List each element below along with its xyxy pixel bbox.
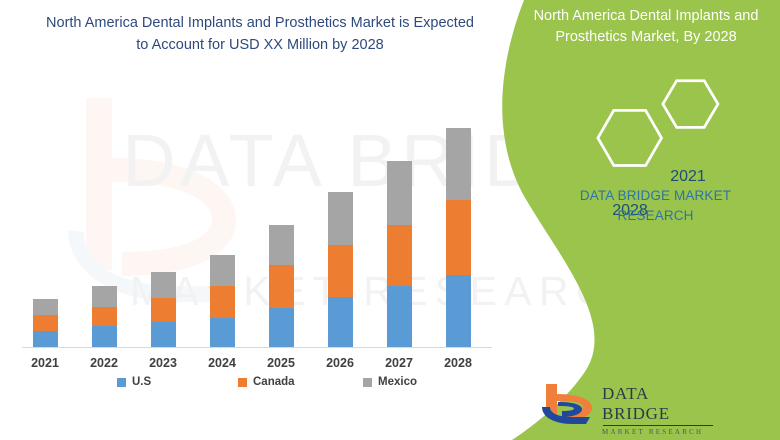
legend-item-mexico[interactable]: Mexico [363, 376, 417, 388]
bar-segment-canada [92, 307, 117, 326]
bar-segment-mexico [151, 272, 176, 298]
legend-label-mexico: Mexico [378, 376, 417, 388]
hexagon-2028-shape [598, 110, 662, 165]
bar-segment-mexico [33, 299, 58, 315]
bar-segment-canada [210, 286, 235, 318]
bar-segment-canada [269, 265, 294, 308]
panel-brand-text: DATA BRIDGE MARKET RESEARCH [548, 186, 763, 227]
legend-item-canada[interactable]: Canada [238, 376, 295, 388]
legend-swatch-canada-icon [238, 378, 247, 387]
bar-segment-us [269, 308, 294, 347]
hexagon-group: 2028 2021 [586, 72, 736, 182]
legend-swatch-mexico-icon [363, 378, 372, 387]
bar-segment-canada [33, 315, 58, 331]
bar-segment-us [210, 318, 235, 347]
logo-mark-icon [540, 382, 598, 426]
logo-tagline: MARKET RESEARCH [602, 428, 720, 436]
hexagon-2021-label: 2021 [658, 168, 718, 186]
logo-name: DATA BRIDGE [602, 384, 720, 424]
bar-column-2027[interactable] [387, 161, 412, 347]
bar-segment-us [33, 331, 58, 347]
bar-segment-us [328, 297, 353, 347]
bar-segment-us [387, 286, 412, 347]
panel-title: North America Dental Implants and Prosth… [520, 6, 772, 48]
legend-label-canada: Canada [253, 376, 295, 388]
company-logo[interactable]: DATA BRIDGE MARKET RESEARCH [540, 382, 720, 426]
bar-column-2028[interactable] [446, 128, 471, 347]
bar-segment-canada [387, 225, 412, 286]
x-tick-label-2021: 2021 [15, 356, 75, 370]
bar-column-2026[interactable] [328, 192, 353, 347]
legend-label-us: U.S [132, 376, 151, 388]
bar-segment-us [151, 322, 176, 347]
logo-divider [603, 425, 713, 426]
bar-segment-mexico [269, 225, 294, 265]
x-tick-label-2026: 2026 [310, 356, 370, 370]
chart-baseline-axis [22, 347, 492, 348]
x-tick-label-2025: 2025 [251, 356, 311, 370]
bar-column-2023[interactable] [151, 272, 176, 347]
hexagon-shapes [586, 72, 736, 182]
bar-segment-canada [151, 298, 176, 322]
bar-segment-canada [446, 200, 471, 275]
bar-segment-mexico [210, 255, 235, 286]
infographic-canvas: DATA BRIDGE MARKET RESEARCH North Americ… [0, 0, 780, 440]
legend-item-us[interactable]: U.S [117, 376, 151, 388]
bar-segment-us [92, 326, 117, 347]
legend-swatch-us-icon [117, 378, 126, 387]
stacked-bar-chart: 2021 2022 2023 2024 2025 2026 2027 2028 … [0, 0, 500, 400]
bar-column-2021[interactable] [33, 299, 58, 347]
bar-segment-mexico [92, 286, 117, 307]
logo-wordmark: DATA BRIDGE MARKET RESEARCH [602, 384, 720, 436]
bar-column-2024[interactable] [210, 255, 235, 347]
bar-column-2022[interactable] [92, 286, 117, 347]
x-tick-label-2028: 2028 [428, 356, 488, 370]
x-tick-label-2022: 2022 [74, 356, 134, 370]
bar-segment-mexico [387, 161, 412, 225]
chart-legend: U.S Canada Mexico [0, 376, 500, 394]
x-tick-label-2023: 2023 [133, 356, 193, 370]
x-tick-label-2027: 2027 [369, 356, 429, 370]
hexagon-2021-shape [663, 81, 718, 128]
x-tick-label-2024: 2024 [192, 356, 252, 370]
bar-segment-mexico [446, 128, 471, 200]
bar-segment-us [446, 275, 471, 347]
bar-segment-mexico [328, 192, 353, 245]
bar-column-2025[interactable] [269, 225, 294, 347]
bar-segment-canada [328, 245, 353, 297]
